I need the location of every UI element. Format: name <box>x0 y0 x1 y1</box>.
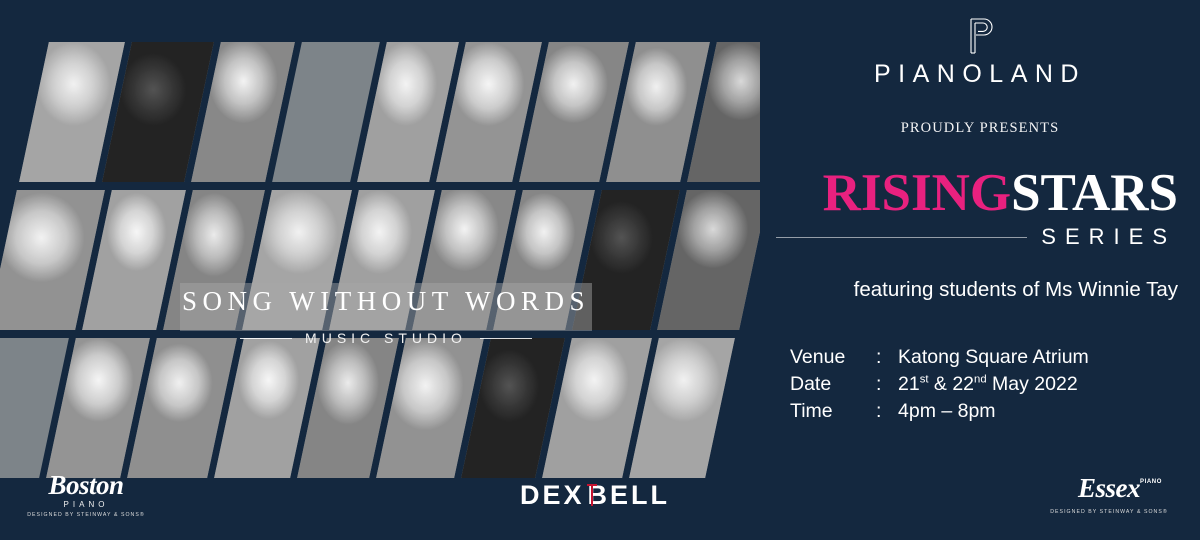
detail-colon: : <box>876 371 898 398</box>
studio-subtitle: MUSIC STUDIO <box>305 330 467 346</box>
detail-label: Venue <box>790 344 876 371</box>
presents-label: PROUDLY PRESENTS <box>760 120 1200 137</box>
collage-rows <box>0 42 760 486</box>
dexibell-text-left: DEX <box>520 480 585 511</box>
sponsor-logo-essex: Essex PIANO DESIGNED BY STEINWAY & SONS® <box>1034 475 1184 515</box>
sponsor-logo-dexibell: DEX BELL <box>520 480 670 511</box>
date-ordinal-1: st <box>920 374 929 386</box>
date-month-year: May 2022 <box>987 373 1078 395</box>
brand-name: PIANOLAND <box>760 60 1200 89</box>
boston-tagline: DESIGNED BY STEINWAY & SONS® <box>16 512 156 518</box>
date-day-1: 21 <box>898 373 920 395</box>
detail-label: Date <box>790 371 876 398</box>
essex-tagline: DESIGNED BY STEINWAY & SONS® <box>1034 509 1184 515</box>
event-details: Venue : Katong Square Atrium Date : 21st… <box>790 344 1089 425</box>
info-panel: PIANOLAND PROUDLY PRESENTS RISINGSTARS S… <box>760 0 1200 540</box>
poster: SONG WITHOUT WORDS MUSIC STUDIO PIANOLAN… <box>0 0 1200 540</box>
title-stars: STARS <box>1011 164 1178 222</box>
essex-piano-label: PIANO <box>1140 479 1162 485</box>
essex-wordmark: Essex PIANO <box>1034 475 1184 502</box>
series-group: SERIES <box>776 224 1178 250</box>
series-label: SERIES <box>1041 224 1178 250</box>
studio-title: SONG WITHOUT WORDS <box>180 286 592 317</box>
detail-colon: : <box>876 344 898 371</box>
series-divider <box>776 237 1027 238</box>
page-title: RISINGSTARS <box>776 166 1178 220</box>
date-separator: & 22 <box>929 373 975 395</box>
detail-time: Time : 4pm – 8pm <box>790 398 1089 425</box>
detail-venue: Venue : Katong Square Atrium <box>790 344 1089 371</box>
photo-collage: SONG WITHOUT WORDS MUSIC STUDIO <box>0 0 760 540</box>
title-rising: RISING <box>823 164 1012 222</box>
detail-value: Katong Square Atrium <box>898 344 1089 371</box>
detail-date: Date : 21st & 22nd May 2022 <box>790 371 1089 398</box>
sponsor-logo-boston: Boston PIANO DESIGNED BY STEINWAY & SONS… <box>16 472 156 518</box>
detail-value: 21st & 22nd May 2022 <box>898 371 1078 398</box>
boston-piano-label: PIANO <box>16 500 156 509</box>
subtitle-rule-left <box>240 338 292 339</box>
collage-row <box>0 42 760 182</box>
detail-colon: : <box>876 398 898 425</box>
studio-subtitle-group: MUSIC STUDIO <box>180 330 592 346</box>
essex-script-text: Essex <box>1078 473 1140 503</box>
sponsor-logos: Boston PIANO DESIGNED BY STEINWAY & SONS… <box>0 466 1200 524</box>
detail-value: 4pm – 8pm <box>898 398 996 425</box>
date-ordinal-2: nd <box>974 374 987 386</box>
boston-wordmark: Boston <box>16 472 156 499</box>
featuring-line: featuring students of Ms Winnie Tay <box>760 278 1178 302</box>
detail-label: Time <box>790 398 876 425</box>
pianoland-p-monogram-icon <box>760 16 1200 56</box>
collage-row <box>0 338 760 478</box>
dexibell-wordmark: DEX BELL <box>520 480 670 511</box>
subtitle-rule-right <box>480 338 532 339</box>
dexibell-text-right: BELL <box>588 480 671 511</box>
